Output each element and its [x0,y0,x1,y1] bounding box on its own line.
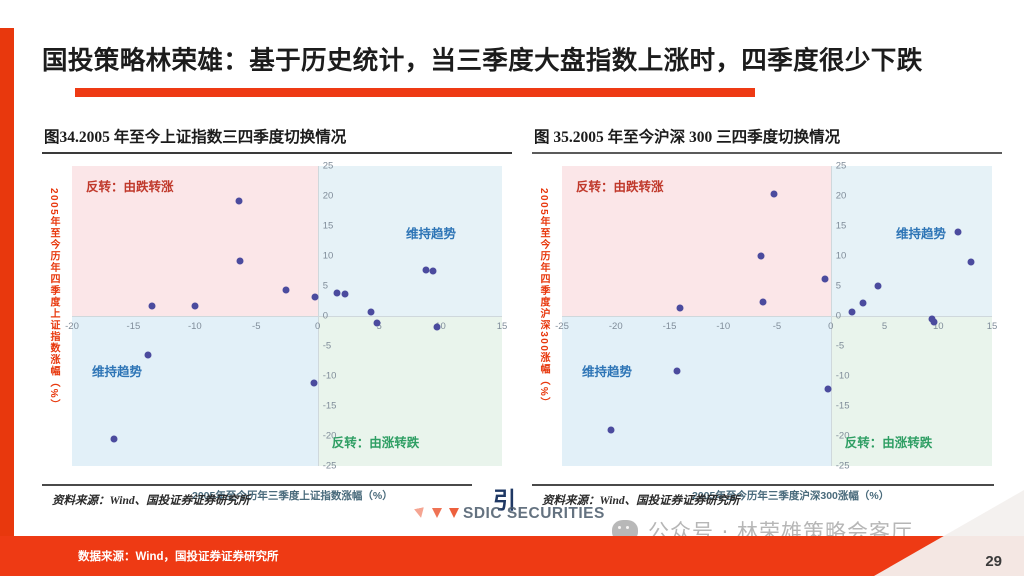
y-tick-label: 25 [836,160,847,171]
y-tick-label: 5 [323,281,328,292]
x-tick-label: -20 [65,321,79,332]
data-point [145,352,152,359]
x-tick-label: -25 [555,321,569,332]
data-point [608,426,615,433]
x-tick-label: 0 [315,321,320,332]
data-point [760,299,767,306]
chart-right-title: 图 35.2005 年至今沪深 300 三四季度切换情况 [532,128,1002,148]
y-tick-label: 10 [836,250,847,261]
data-point [312,293,319,300]
logo-ticks-icon [415,508,459,518]
x-tick-label: 0 [828,321,833,332]
data-point [674,368,681,375]
y-tick-label: 20 [323,191,334,202]
data-point [824,385,831,392]
data-point [430,268,437,275]
y-tick-label: -15 [836,400,850,411]
x-tick-label: -10 [188,321,202,332]
data-point [677,305,684,312]
data-point [757,252,764,259]
data-point [148,303,155,310]
logo-wordmark: SDIC SECURITIES [463,505,605,523]
data-point [191,303,198,310]
y-tick-label: 20 [836,190,847,201]
data-point [770,190,777,197]
y-axis-caption: 2005年至今历年四季度上证指数涨幅（%） [46,188,61,458]
y-tick-label: 0 [323,311,328,322]
x-axis-line [562,316,992,317]
x-tick-label: 15 [987,321,998,332]
x-tick-label: -5 [773,321,781,332]
quadrant-label-bottom-right: 反转：由涨转跌 [332,432,420,451]
data-point [110,436,117,443]
x-tick-label: -15 [127,321,141,332]
data-point [875,282,882,289]
left-accent-bar-gap [0,0,14,28]
data-point [954,228,961,235]
data-point [282,287,289,294]
data-point [236,197,243,204]
quadrant-label-top-left: 反转：由跌转涨 [86,176,174,195]
quadrant-label-bottom-right: 反转：由涨转跌 [845,432,933,451]
data-point [367,308,374,315]
y-tick-label: -10 [836,370,850,381]
y-tick-label: -5 [323,341,331,352]
y-tick-label: 25 [323,161,334,172]
quadrant-trend-down [72,316,318,466]
chart-panel-right: 图 35.2005 年至今沪深 300 三四季度切换情况 -25-20-15-1… [532,128,1002,518]
y-tick-label: -5 [836,340,844,351]
quadrant-label-bottom-left: 维持趋势 [582,361,632,380]
x-tick-label: -15 [663,321,677,332]
footer-source-text: 数据来源：Wind，国投证券证券研究所 [78,548,279,564]
data-point [334,289,341,296]
y-tick-label: -10 [323,371,337,382]
data-point [967,259,974,266]
left-accent-bar [0,0,14,576]
data-point [422,267,429,274]
data-point [341,291,348,298]
y-tick-label: -25 [836,460,850,471]
y-axis-line [831,166,832,466]
data-point [373,320,380,327]
chart-left-title-rule [42,152,512,154]
title-underline [75,88,755,97]
y-tick-label: -25 [323,461,337,472]
chart-panel-left: 图34.2005 年至今上证指数三四季度切换情况 -20-15-10-50510… [42,128,512,518]
page-number: 29 [985,553,1002,570]
data-point [311,380,318,387]
chart-left-source: 资料来源：Wind、国投证券证券研究所 [52,492,250,508]
data-point [822,275,829,282]
x-tick-label: -5 [252,321,260,332]
y-tick-label: 10 [323,251,334,262]
x-tick-label: 15 [497,321,508,332]
page-title: 国投策略林荣雄：基于历史统计，当三季度大盘指数上涨时，四季度很少下跌 [42,44,992,88]
x-tick-label: -20 [609,321,623,332]
quadrant-label-top-right: 维持趋势 [406,223,456,242]
chart-right-title-rule [532,152,1002,154]
data-point [930,318,937,325]
page-title-text: 国投策略林荣雄：基于历史统计，当三季度大盘指数上涨时，四季度很少下跌 [42,44,992,78]
sdic-logo: 引 SDIC SECURITIES [455,483,635,527]
data-point [860,299,867,306]
chart-left-plot: -20-15-10-50510152520151050-5-10-15-20-2… [72,166,502,466]
chart-right-plot: -25-20-15-10-50510152520151050-5-10-15-2… [562,166,992,466]
quadrant-label-bottom-left: 维持趋势 [92,361,142,380]
x-tick-label: -10 [716,321,730,332]
y-tick-label: 5 [836,280,841,291]
y-axis-caption: 2005年至今历年四季度沪深300涨幅（%） [536,188,551,458]
data-point [237,257,244,264]
x-tick-label: 5 [882,321,887,332]
y-tick-label: 15 [323,221,334,232]
data-point [849,308,856,315]
y-tick-label: -15 [323,401,337,412]
quadrant-label-top-right: 维持趋势 [896,223,946,242]
slide-canvas: 国投策略林荣雄：基于历史统计，当三季度大盘指数上涨时，四季度很少下跌 图34.2… [0,0,1024,576]
x-axis-line [72,316,502,317]
chart-left-source-rule [42,484,472,486]
y-axis-line [318,166,319,466]
y-tick-label: 0 [836,310,841,321]
chart-left-title: 图34.2005 年至今上证指数三四季度切换情况 [42,128,512,148]
quadrant-label-top-left: 反转：由跌转涨 [576,176,664,195]
quadrant-trend-down [562,316,831,466]
data-point [433,323,440,330]
y-tick-label: 15 [836,220,847,231]
